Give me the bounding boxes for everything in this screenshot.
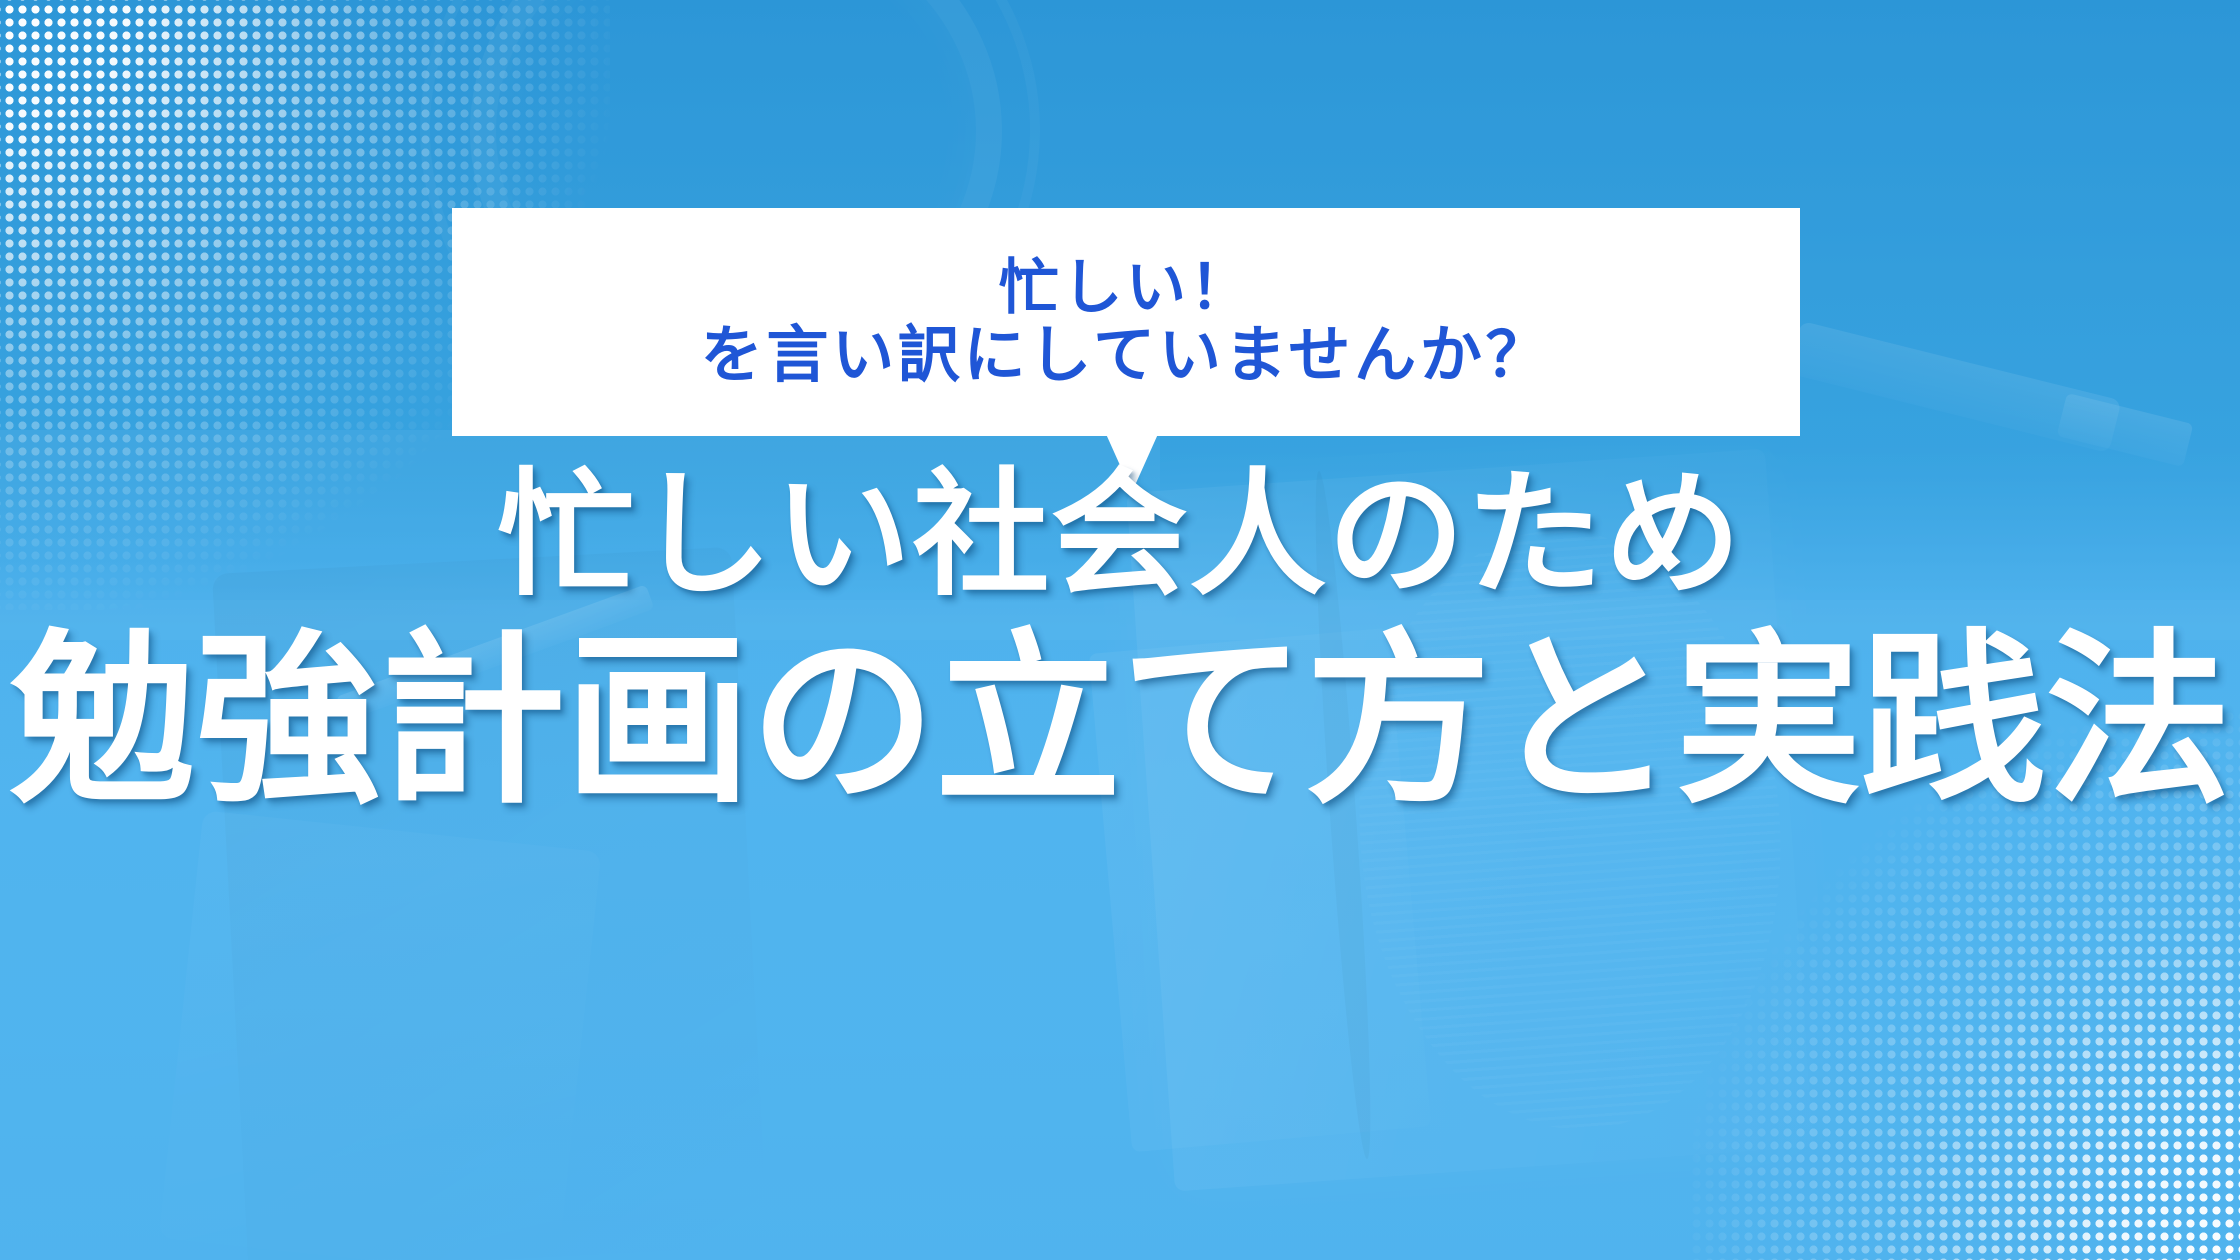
thumbnail-canvas: 忙しい！ を言い訳にしていませんか？ 忙しい社会人のため 勉強計画の立て方と実践… [0,0,2240,1260]
speech-bubble: 忙しい！ を言い訳にしていませんか？ [452,208,1800,436]
headline-line-1: 忙しい社会人のため [0,455,2240,617]
headline: 忙しい社会人のため 勉強計画の立て方と実践法 [0,455,2240,830]
speech-bubble-line-2: を言い訳にしていませんか？ [701,322,1552,387]
speech-bubble-line-1: 忙しい！ [999,257,1253,320]
headline-line-2: 勉強計画の立て方と実践法 [0,611,2240,830]
